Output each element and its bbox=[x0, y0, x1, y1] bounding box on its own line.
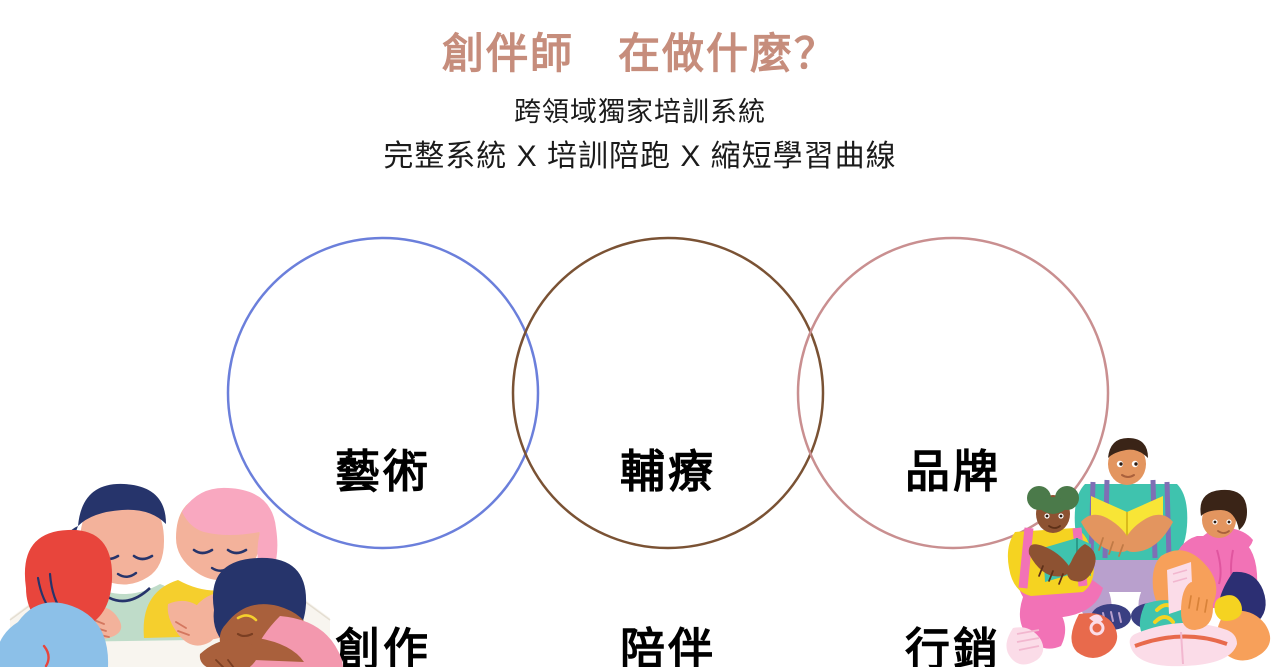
reader-top-leg-left bbox=[1076, 560, 1112, 623]
reader-left-shoe-bow-loop bbox=[1091, 622, 1103, 634]
reader-top-leg-right bbox=[1138, 560, 1174, 623]
loose-bead-center bbox=[90, 618, 94, 622]
reader-right-shorts bbox=[1219, 572, 1266, 629]
reader-top-shoe-lines bbox=[1103, 612, 1121, 622]
venn-label-therapy: 輔療 陪伴 bbox=[553, 323, 783, 667]
mat-dot bbox=[150, 626, 154, 630]
reader-top-shoe-lines bbox=[1143, 611, 1161, 621]
reader-right-fingers bbox=[1189, 596, 1207, 612]
person-c-hair-lines bbox=[38, 574, 64, 614]
bead-string-beads bbox=[122, 610, 176, 620]
mat-dot bbox=[194, 618, 198, 622]
person-b-mouth bbox=[212, 567, 230, 571]
venn-label-art-line1: 藝術 bbox=[268, 442, 498, 501]
loose-bead bbox=[87, 615, 97, 625]
venn-label-art: 藝術 創作 bbox=[268, 323, 498, 667]
venn-label-therapy-line1: 輔療 bbox=[553, 442, 783, 501]
person-a-collar bbox=[96, 588, 150, 601]
reader-right-notebook bbox=[1167, 562, 1193, 614]
reader-top-shoe-left bbox=[1091, 604, 1131, 630]
venn-diagram: 藝術 創作 輔療 陪伴 品牌 行銷 bbox=[0, 230, 1280, 560]
bead-string-2-beads bbox=[168, 601, 212, 628]
venn-label-brand-line1: 品牌 bbox=[838, 442, 1068, 501]
reader-right-band bbox=[1215, 595, 1243, 621]
person-a-arm bbox=[60, 612, 114, 637]
mat-dot bbox=[138, 612, 142, 616]
loose-bead bbox=[95, 628, 105, 638]
reader-right-leg-right bbox=[1216, 611, 1270, 661]
person-a-hand bbox=[80, 606, 121, 638]
person-b-arm-2 bbox=[188, 592, 240, 639]
person-c-shirt bbox=[0, 602, 108, 667]
reader-right-shoe-laces bbox=[1155, 605, 1175, 622]
person-d-hair-highlight bbox=[238, 615, 256, 620]
person-d-fingers bbox=[216, 660, 234, 667]
reader-left-shoe-2 bbox=[1071, 613, 1117, 658]
loose-bead-center bbox=[98, 631, 102, 635]
reader-top-shoe-right bbox=[1131, 603, 1171, 629]
venn-label-art-line2: 創作 bbox=[268, 620, 498, 667]
person-d-eye bbox=[238, 634, 252, 636]
reader-right-shoe bbox=[1140, 600, 1196, 648]
person-b-fingers bbox=[176, 622, 189, 635]
person-a-fingers bbox=[94, 620, 109, 637]
person-d-hand bbox=[200, 640, 258, 667]
bead-string-2 bbox=[168, 601, 212, 628]
venn-label-brand: 品牌 行銷 bbox=[838, 323, 1068, 667]
person-a-mouth bbox=[118, 573, 136, 577]
slide-canvas: 創伴師 在做什麼？ 跨領域獨家培訓系統 完整系統 X 培訓陪跑 X 縮短學習曲線… bbox=[0, 0, 1280, 667]
craft-mat bbox=[112, 598, 222, 636]
reader-right-arm bbox=[1181, 582, 1213, 630]
venn-label-brand-line2: 行銷 bbox=[838, 620, 1068, 667]
heading-block: 創伴師 在做什麼？ 跨領域獨家培訓系統 完整系統 X 培訓陪跑 X 縮短學習曲線 bbox=[0, 0, 1280, 176]
mat-dot bbox=[163, 606, 167, 610]
person-b-arm bbox=[168, 601, 216, 646]
reader-right-leg-left bbox=[1153, 550, 1217, 619]
reader-left-shoe-bow bbox=[1089, 614, 1103, 622]
subtitle-line-1: 跨領域獨家培訓系統 bbox=[0, 78, 1280, 130]
bead-string bbox=[122, 610, 176, 620]
reader-right-book-cover bbox=[1135, 636, 1227, 646]
person-a-shirt bbox=[56, 584, 194, 642]
page-title: 創伴師 在做什麼？ bbox=[0, 0, 1280, 78]
reader-right-book-spine bbox=[1181, 632, 1183, 664]
reader-right-notebook-lines bbox=[1173, 570, 1187, 582]
reader-right-open-book bbox=[1130, 623, 1237, 666]
person-c-shirt-line bbox=[44, 646, 49, 666]
subtitle-line-2: 完整系統 X 培訓陪跑 X 縮短學習曲線 bbox=[0, 130, 1280, 176]
venn-label-therapy-line2: 陪伴 bbox=[553, 620, 783, 667]
table-edge-line-2 bbox=[14, 624, 300, 644]
